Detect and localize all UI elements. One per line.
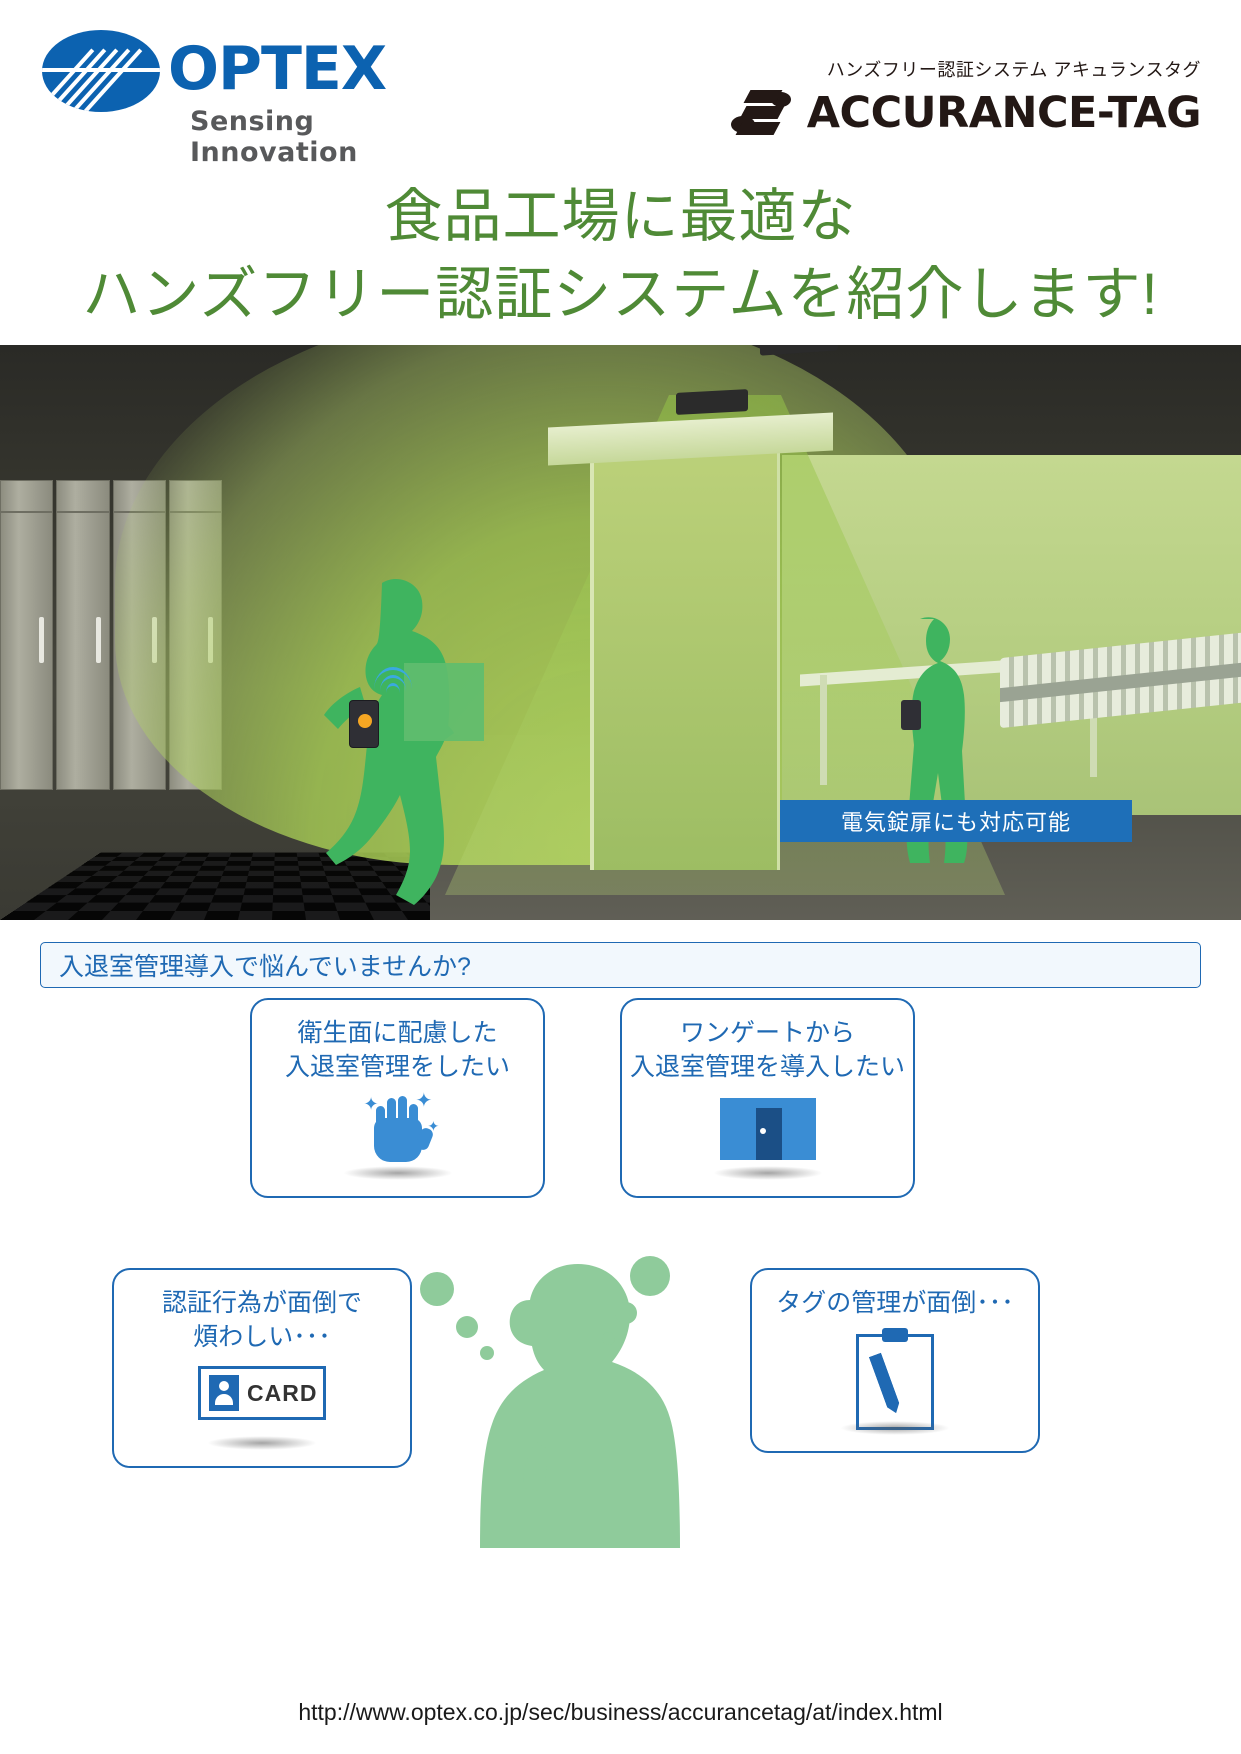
accurance-tag-logo-block: ハンズフリー認証システム アキュランスタグ ACCURANCE-TAG [731,56,1201,138]
thought-bubble [602,1332,615,1345]
problem-box-tag-management[interactable]: タグの管理が面倒･･･ [750,1268,1040,1453]
problem-box-hygiene[interactable]: 衛生面に配慮した 入退室管理をしたい ✦✦✦ [250,998,545,1198]
wireless-signal-icon [372,663,414,697]
hand-sparkle-icon: ✦✦✦ [366,1092,430,1164]
optex-logo: OPTEX Sensing Innovation [42,26,387,144]
icon-shadow [343,1166,453,1180]
headline-line-1: 食品工場に最適な [0,179,1241,255]
card-photo-icon [209,1375,239,1411]
sensor-unit-icon [676,389,748,415]
problem-section-title: 入退室管理導入で悩んでいませんか? [59,947,471,983]
problem-boxes-group: 衛生面に配慮した 入退室管理をしたい ✦✦✦ ワンゲートから 入退室管理を導入し… [0,988,1241,1548]
icon-shadow [840,1421,950,1435]
thought-bubble [480,1346,494,1360]
icon-shadow [713,1166,823,1180]
accurance-tag-wordmark: ACCURANCE-TAG [807,88,1201,138]
handheld-tag-device-icon [901,700,921,730]
card-label: CARD [247,1380,317,1407]
problem-box-onegate-line-1: ワンゲートから [622,1016,913,1050]
problem-box-authentication[interactable]: 認証行為が面倒で 煩わしい･･･ CARD [112,1268,412,1468]
problem-box-hygiene-line-1: 衛生面に配慮した [252,1016,543,1050]
problem-box-authentication-line-2: 煩わしい･･･ [114,1320,410,1354]
accurance-tag-device-icon [349,700,379,748]
problem-box-hygiene-line-2: 入退室管理をしたい [252,1050,543,1084]
accurance-s-mark-icon [731,90,793,136]
thought-bubble [615,1302,637,1324]
id-card-icon: CARD [198,1366,326,1420]
table-leg [820,675,827,785]
page-header: OPTEX Sensing Innovation ハンズフリー認証システム アキ… [0,0,1241,165]
problem-box-onegate-line-2: 入退室管理を導入したい [622,1050,913,1084]
problem-section-bar: 入退室管理導入で悩んでいませんか? [40,942,1201,988]
clipboard-clip-icon [882,1328,908,1342]
optex-emblem-icon [42,30,160,112]
main-headline: 食品工場に最適な ハンズフリー認証システムを紹介します! [0,179,1241,335]
product-subtitle: ハンズフリー認証システム アキュランスタグ [731,56,1201,82]
hero-photo: 電気錠扉にも対応可能 [0,345,1241,920]
headline-line-2: ハンズフリー認証システムを紹介します! [0,255,1241,335]
thinking-person-illustration [470,1246,685,1548]
thought-bubble [420,1272,454,1306]
thought-bubble [456,1316,478,1338]
problem-box-tag-management-line-1: タグの管理が面倒･･･ [752,1286,1038,1320]
clipboard-pencil-icon [856,1334,934,1430]
problem-box-authentication-line-1: 認証行為が面倒で [114,1286,410,1320]
worker-silhouette-walking [300,575,490,920]
thought-bubble [630,1256,670,1296]
icon-shadow [207,1436,317,1450]
pencil-icon [869,1353,902,1416]
footer-url[interactable]: http://www.optex.co.jp/sec/business/accu… [0,1699,1241,1726]
problem-box-onegate[interactable]: ワンゲートから 入退室管理を導入したい [620,998,915,1198]
sliding-door [590,440,780,870]
electric-lock-badge: 電気錠扉にも対応可能 [780,800,1132,842]
carried-package [404,663,484,741]
gate-door-icon [720,1098,816,1160]
optex-wordmark: OPTEX [168,34,386,104]
optex-tagline: Sensing Innovation [190,106,387,168]
